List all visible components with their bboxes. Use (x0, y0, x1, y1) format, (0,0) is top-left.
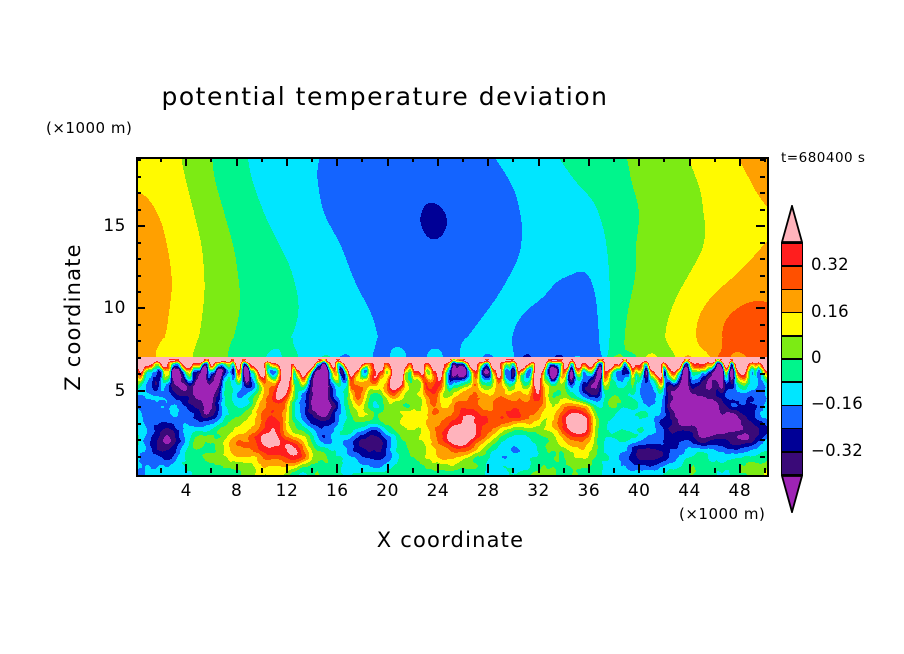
y-axis-unit-label: (×1000 m) (46, 119, 132, 137)
colorbar-cap-top (781, 205, 803, 243)
y-tick-label: 10 (92, 298, 126, 318)
x-tick-label: 20 (368, 481, 408, 501)
x-tick-label: 24 (418, 481, 458, 501)
colorbar-tick-label: −0.32 (811, 441, 863, 460)
x-tick-label: 44 (670, 481, 710, 501)
colorbar-divider (781, 312, 803, 314)
colorbar-tick-label: 0.16 (811, 302, 849, 321)
colorbar-band (781, 429, 803, 452)
colorbar-tick-label: 0 (811, 348, 822, 367)
colorbar-divider (781, 265, 803, 267)
contour-plot-area (136, 157, 769, 477)
colorbar-band (781, 243, 803, 266)
colorbar: 0.320.160−0.16−0.32 (781, 243, 803, 475)
x-tick-label: 32 (519, 481, 559, 501)
x-axis-unit-label: (×1000 m) (679, 505, 765, 523)
timestamp-label: t=680400 s (781, 150, 865, 166)
colorbar-band (781, 452, 803, 475)
x-tick-label: 12 (267, 481, 307, 501)
colorbar-band (781, 359, 803, 382)
x-axis-title: X coordinate (136, 528, 765, 552)
colorbar-tick-label: −0.16 (811, 394, 863, 413)
colorbar-band (781, 313, 803, 336)
colorbar-divider (781, 428, 803, 430)
colorbar-band (781, 289, 803, 312)
colorbar-tick-label: 0.32 (811, 255, 849, 274)
colorbar-band (781, 382, 803, 405)
y-tick-label: 5 (92, 381, 126, 401)
page-title: potential temperature deviation (0, 82, 770, 111)
x-tick-label: 40 (619, 481, 659, 501)
x-tick-label: 28 (468, 481, 508, 501)
x-tick-label: 4 (166, 481, 206, 501)
colorbar-band (781, 405, 803, 428)
contour-canvas (138, 159, 767, 475)
colorbar-divider (781, 405, 803, 407)
colorbar-divider (781, 289, 803, 291)
colorbar-cap-bottom (781, 475, 803, 513)
colorbar-divider (781, 381, 803, 383)
colorbar-divider (781, 451, 803, 453)
colorbar-band (781, 266, 803, 289)
contour-field (138, 159, 767, 475)
colorbar-divider (781, 358, 803, 360)
x-tick-label: 48 (720, 481, 760, 501)
colorbar-divider (781, 335, 803, 337)
y-tick-label: 15 (92, 216, 126, 236)
colorbar-divider (781, 242, 803, 244)
x-tick-label: 8 (217, 481, 257, 501)
x-tick-label: 36 (569, 481, 609, 501)
x-tick-label: 16 (317, 481, 357, 501)
colorbar-band (781, 336, 803, 359)
y-axis-title: Z coordinate (61, 197, 85, 437)
